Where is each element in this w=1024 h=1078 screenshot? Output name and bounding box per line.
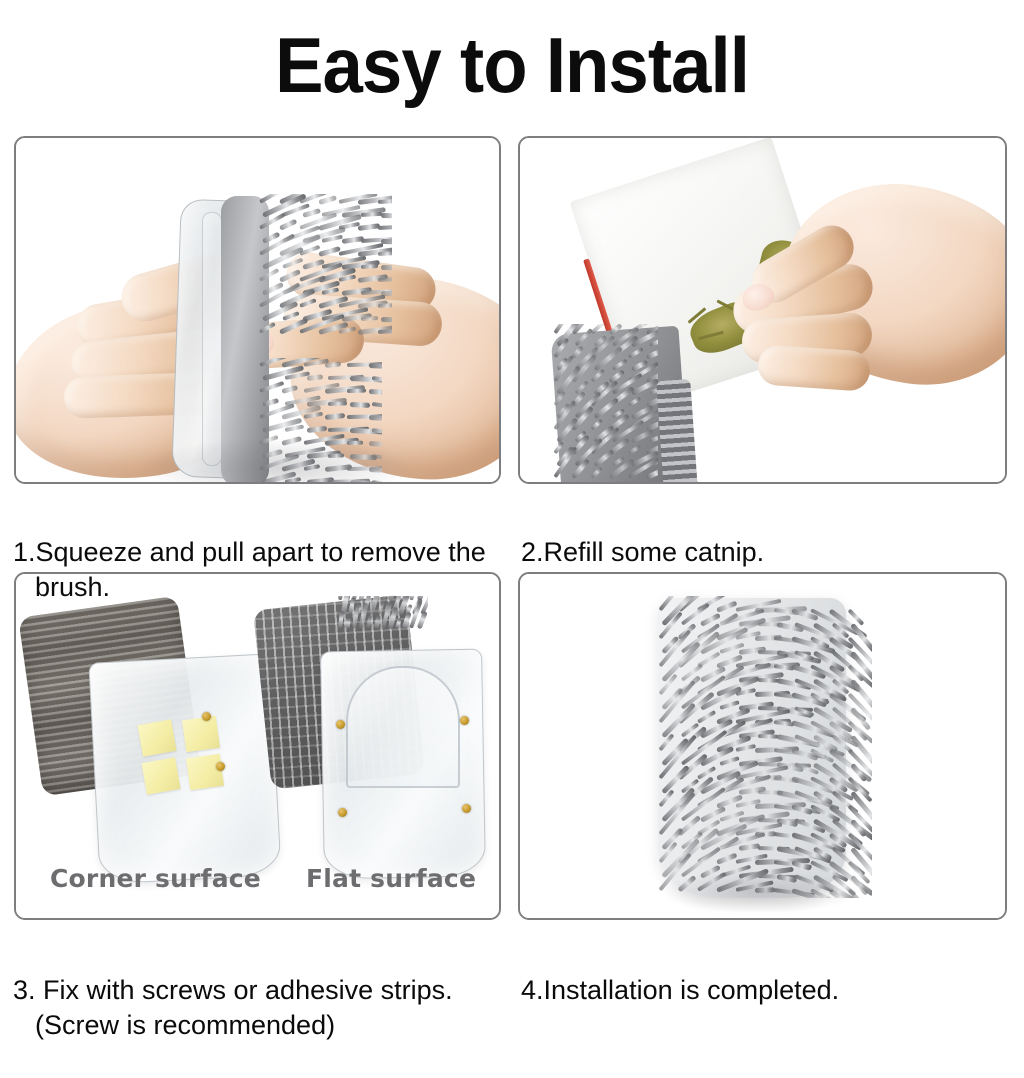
corner-surface-label: Corner surface [50,864,261,893]
step-2-caption: 2.Refill some catnip. [521,500,1001,570]
panel4-contact-shadow [660,870,860,914]
brush-side-vents [656,379,698,482]
page-title: Easy to Install [36,24,988,106]
step-4-image-panel [518,572,1007,920]
step-1-caption-line1: 1.Squeeze and pull apart to remove the [13,537,486,567]
flat-screw-bottom-left [338,808,347,817]
photo-squeeze-and-pull-apart [16,138,499,482]
step-3-caption: 3. Fix with screws or adhesive strips. (… [13,938,505,1078]
flat-screw-top-left [336,720,345,729]
step-2-image-panel [518,136,1007,484]
brush-bristle-field [548,324,658,482]
brush-shell-inner-rib [202,212,222,466]
step-1-image-panel [14,136,501,484]
corner-screw-side [216,762,225,771]
step-4-caption: 4.Installation is completed. [521,938,1001,1008]
adhesive-pad-top-left [137,719,176,756]
adhesive-pad-bottom-right [186,754,224,790]
step-4-caption-line1: 4.Installation is completed. [521,975,839,1005]
corner-clear-cover [88,653,281,884]
photo-installation-completed [520,574,1005,918]
flat-screw-top-right [460,716,469,725]
step-3-caption-line2: (Screw is recommended) [13,1008,505,1043]
brush-bristle-field-upper [252,194,392,342]
adhesive-pad-top-right [182,716,220,752]
adhesive-pad-bottom-left [141,757,180,794]
flat-cover-inner-arch [346,666,460,788]
step-3-caption-line1: 3. Fix with screws or adhesive strips. [13,975,453,1005]
flat-surface-label: Flat surface [306,864,476,893]
assembled-brush-bristle-field [646,596,872,898]
step-2-caption-line1: 2.Refill some catnip. [521,537,764,567]
flat-screw-bottom-right [462,804,471,813]
step-1-caption: 1.Squeeze and pull apart to remove the b… [13,500,505,640]
ring-finger [757,344,872,392]
corner-screw-top [202,712,211,721]
photo-refill-catnip [520,138,1005,482]
step-1-caption-line2: brush. [13,570,505,605]
